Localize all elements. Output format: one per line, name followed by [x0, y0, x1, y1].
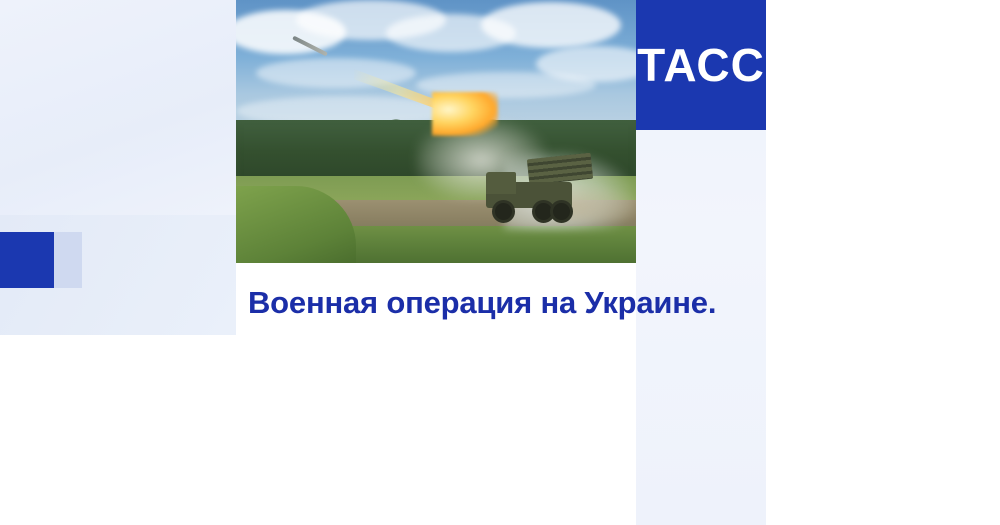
- tass-logo: ТАСС: [636, 0, 766, 130]
- screenshot-canvas: ТАСС Военная операция на Украине.: [0, 0, 1000, 525]
- background-accent-square: [0, 232, 54, 288]
- rocket-launcher-wheel: [550, 200, 573, 223]
- rocket-launcher-cab: [486, 172, 516, 194]
- news-photo: [236, 0, 636, 263]
- page-title: Военная операция на Украине.: [248, 283, 718, 322]
- background-block-right-far: [766, 0, 1000, 525]
- background-accent-square-soft: [54, 232, 82, 288]
- rocket-launcher-wheel: [492, 200, 515, 223]
- background-block-left-top: [0, 0, 236, 215]
- rocket-flame-icon: [432, 92, 498, 136]
- tass-logo-text: ТАСС: [637, 42, 765, 88]
- photo-cloud: [481, 2, 621, 48]
- background-block-left-bottom: [0, 335, 236, 525]
